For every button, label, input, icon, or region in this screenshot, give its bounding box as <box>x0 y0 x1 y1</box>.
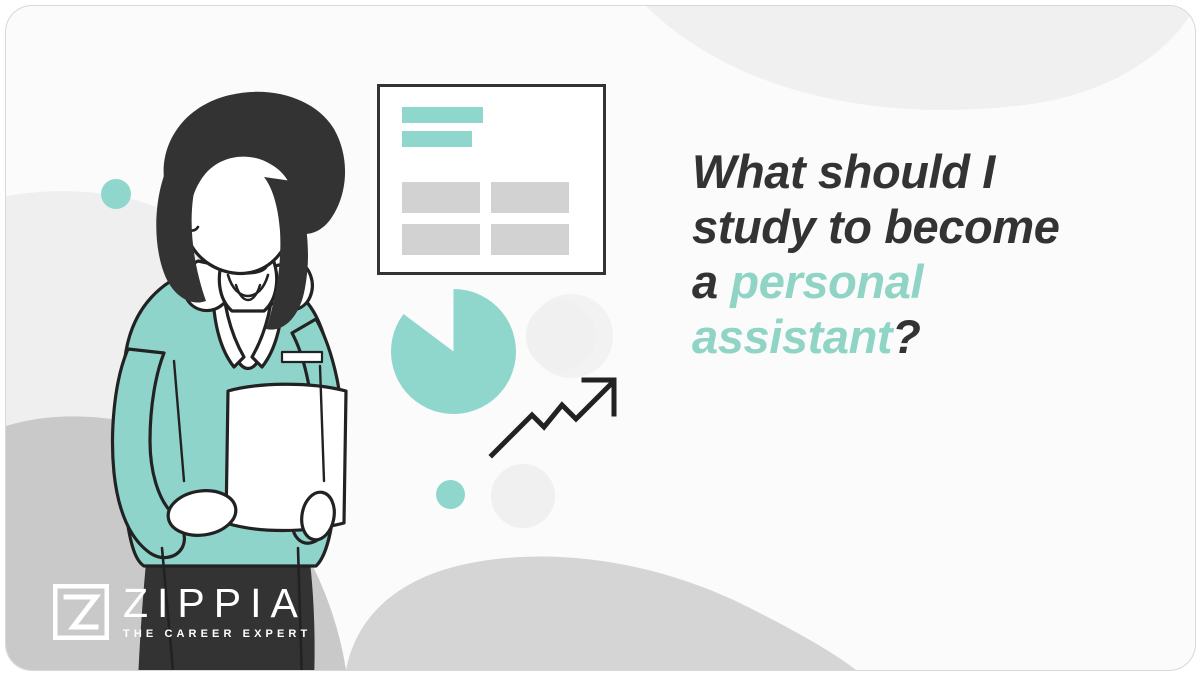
name-badge <box>282 352 322 362</box>
headline-line-2: study to become <box>692 199 1162 254</box>
headline-line-3: a personal <box>692 254 1162 309</box>
zippia-wordmark: ZIPPIA <box>123 583 311 624</box>
upward-trend-arrow-icon <box>486 371 626 461</box>
top-right-blob <box>646 6 1195 110</box>
zippia-z-mark-icon <box>53 584 109 640</box>
zippia-logo-text: ZIPPIA THE CAREER EXPERT <box>123 583 311 640</box>
document-card-block-4 <box>491 224 569 255</box>
zippia-tagline: THE CAREER EXPERT <box>123 628 311 640</box>
teal-dot-lower-icon <box>436 480 465 509</box>
headline-accent-personal: personal <box>730 255 923 308</box>
decorative-gray-blob-mid <box>526 301 596 371</box>
promo-card: What should I study to become a personal… <box>6 6 1195 670</box>
headline-question-mark: ? <box>892 310 920 363</box>
headline-line-4: assistant? <box>692 309 1162 364</box>
headline: What should I study to become a personal… <box>692 144 1162 364</box>
headline-accent-assistant: assistant <box>692 310 892 363</box>
zippia-logo: ZIPPIA THE CAREER EXPERT <box>53 583 311 640</box>
woman-illustration <box>66 61 436 670</box>
decorative-gray-blob-lower <box>491 464 555 528</box>
document-card-block-2 <box>491 182 569 213</box>
headline-line-3-prefix: a <box>692 255 730 308</box>
screenshot-root: What should I study to become a personal… <box>0 0 1201 676</box>
headline-line-1: What should I <box>692 144 1162 199</box>
